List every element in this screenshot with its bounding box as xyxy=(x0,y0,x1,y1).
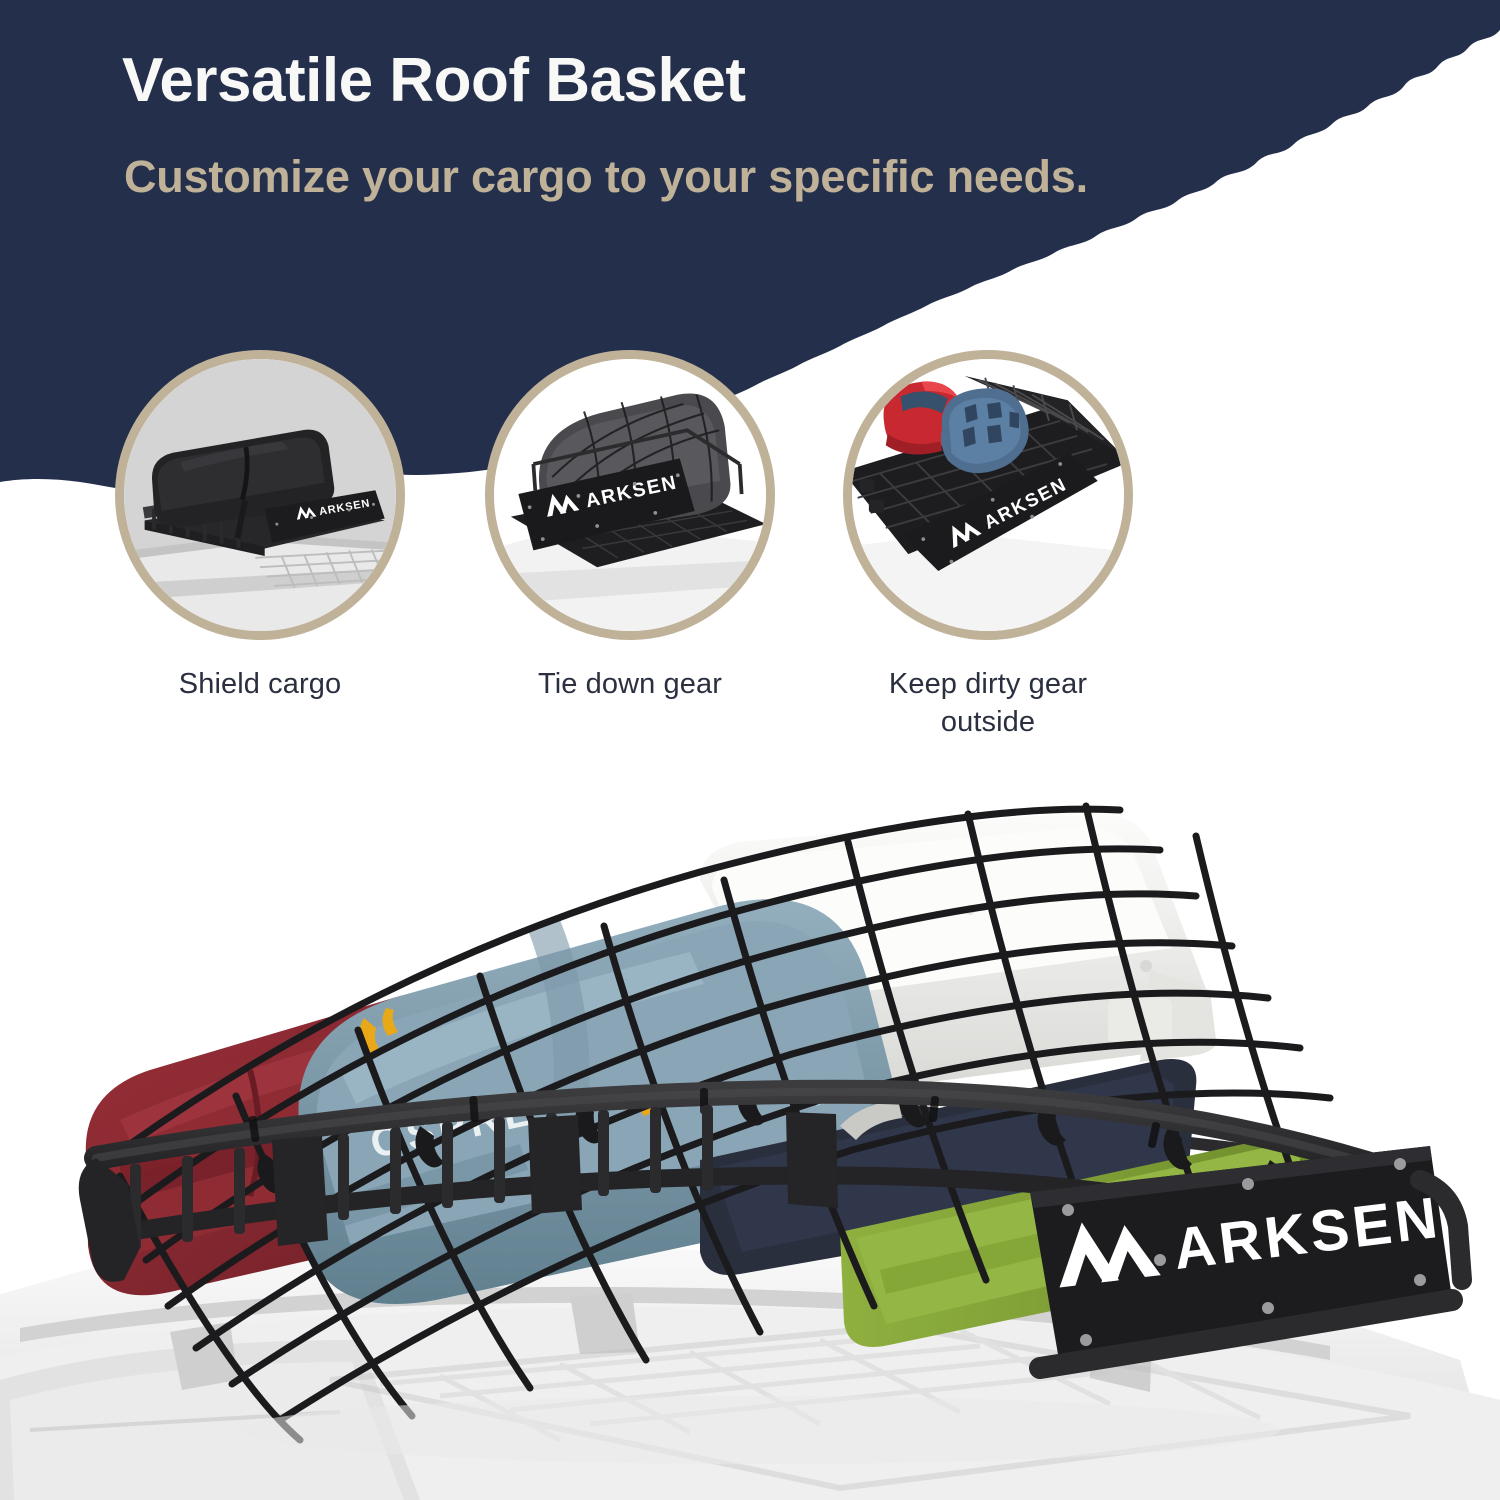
feature-image-tie-down-gear: ARKSEN xyxy=(494,359,766,631)
page-title: Versatile Roof Basket xyxy=(122,48,746,113)
feature-thumbnail-keep-dirty-gear: ARKSEN xyxy=(843,350,1133,640)
hero-product-image: OSPREY Transporter xyxy=(0,740,1500,1500)
feature-item-tie-down-gear: ARKSEN Tie down gear xyxy=(480,350,780,704)
feature-item-shield-cargo: ARKSEN Shield cargo xyxy=(110,350,410,704)
feature-caption-keep-dirty-gear: Keep dirty gear outside xyxy=(838,666,1138,741)
feature-thumbnail-shield-cargo: ARKSEN xyxy=(115,350,405,640)
feature-thumbnail-tie-down-gear: ARKSEN xyxy=(485,350,775,640)
feature-item-keep-dirty-gear-outside: ARKSEN Keep dirty gear outside xyxy=(838,350,1138,741)
feature-caption-tie-down-gear: Tie down gear xyxy=(480,666,780,704)
feature-image-keep-dirty-gear: ARKSEN xyxy=(852,359,1124,631)
feature-caption-shield-cargo: Shield cargo xyxy=(110,666,410,704)
page-subtitle: Customize your cargo to your specific ne… xyxy=(124,148,1304,206)
feature-image-shield-cargo: ARKSEN xyxy=(124,359,396,631)
hero-illustration: OSPREY Transporter xyxy=(0,740,1500,1500)
feature-highlights: ARKSEN Shield cargo xyxy=(0,350,1500,750)
header-text-block: Versatile Roof Basket Customize your car… xyxy=(0,0,1500,330)
